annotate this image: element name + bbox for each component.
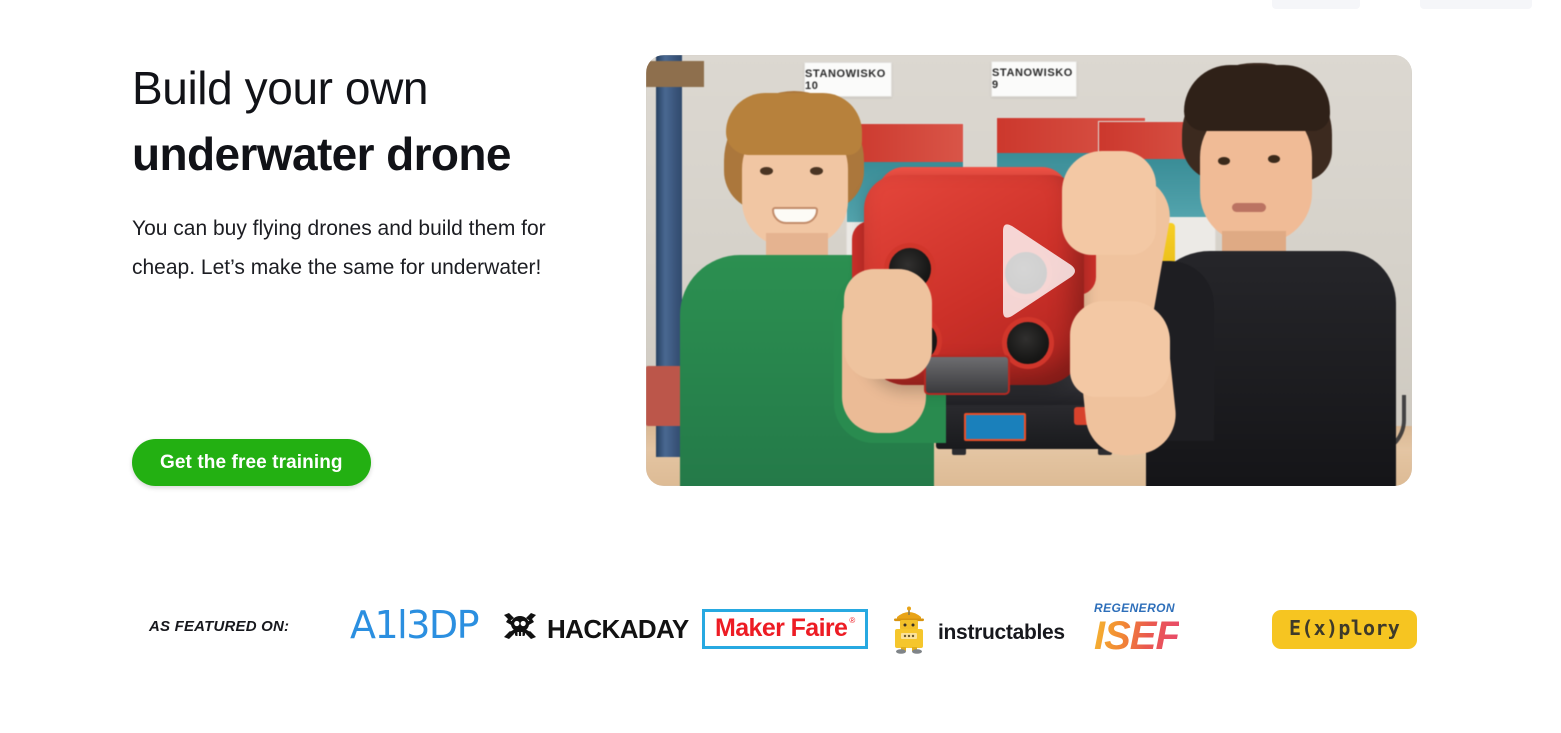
video-thumbnail[interactable]: STANOWISKO 10 STANOWISKO 9 (646, 55, 1412, 486)
logo-explory-box: E(x)plory (1272, 610, 1417, 649)
person-left-mouth (772, 207, 818, 224)
person-right-mouth (1232, 203, 1266, 212)
person-left-fringe (726, 93, 862, 155)
shelving-rack-shelf (646, 61, 704, 87)
header-remnant-left (1272, 0, 1360, 9)
workstation-sign-10: STANOWISKO 10 (804, 62, 892, 97)
logo-regeneron-isef[interactable]: REGENERON ISEF (1094, 602, 1179, 656)
logo-maker-faire[interactable]: Maker Faire ® (702, 609, 868, 649)
logo-explory[interactable]: E(x)plory (1272, 610, 1417, 649)
header-remnant-right (1420, 0, 1532, 9)
as-featured-on-strip: AS FEATURED ON: A1l3DP (0, 598, 1561, 662)
play-triangle-icon[interactable] (973, 215, 1085, 327)
person-right-eye-left (1218, 157, 1230, 165)
logo-maker-faire-text: Maker Faire (715, 616, 847, 641)
as-featured-on-label: AS FEATURED ON: (149, 618, 289, 635)
logo-maker-faire-registered: ® (849, 616, 855, 625)
logo-hackaday[interactable]: HACKADAY (502, 612, 689, 645)
workstation-sign-9: STANOWISKO 9 (991, 61, 1077, 97)
logo-regeneron-text: REGENERON (1094, 602, 1175, 614)
person-right-eye-right (1268, 155, 1280, 163)
person-right-fringe (1184, 65, 1330, 131)
logo-all3dp-text: A1l3DP (350, 606, 478, 644)
landing-page: Build your own underwater drone You can … (0, 0, 1561, 733)
person-right-hand-lower (1070, 301, 1170, 397)
person-left-eye-right (810, 167, 823, 175)
hero-subheadline: You can buy flying drones and build them… (132, 209, 612, 287)
person-left-eye-left (760, 167, 773, 175)
robot-icon (888, 606, 930, 659)
person-left-hand (844, 269, 932, 379)
logo-instructables[interactable]: instructables (888, 606, 1065, 659)
drone-panel (924, 355, 1010, 395)
printer-screen (964, 413, 1026, 441)
logo-maker-faire-box: Maker Faire ® (702, 609, 868, 649)
logo-hackaday-text: HACKADAY (547, 616, 689, 642)
logo-all3dp[interactable]: A1l3DP (350, 606, 478, 644)
skull-wrenches-icon (502, 612, 538, 645)
hero-headline-line1: Build your own (132, 55, 632, 121)
logo-instructables-text: instructables (938, 622, 1065, 643)
get-free-training-button[interactable]: Get the free training (132, 439, 371, 486)
hero-headline-line2: underwater drone (132, 121, 632, 187)
hero-text-block: Build your own underwater drone You can … (132, 55, 632, 287)
logo-isef-text: ISEF (1094, 616, 1179, 656)
logo-explory-text: E(x)plory (1289, 616, 1400, 640)
